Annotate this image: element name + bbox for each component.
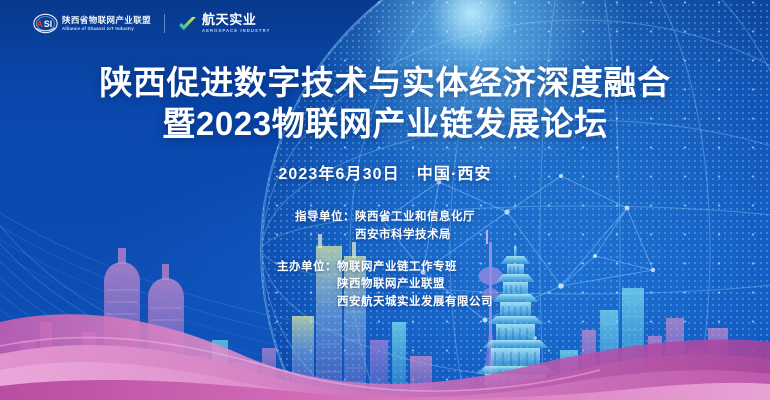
- headline-line-2: 暨2023物联网产业链发展论坛: [0, 104, 770, 145]
- svg-text:A: A: [37, 19, 44, 29]
- host-units-label: 主办单位：: [277, 259, 337, 277]
- list-item: 陕西物联网产业联盟: [337, 276, 493, 294]
- guidance-units-label: 指导单位：: [295, 209, 355, 227]
- list-item: 西安航天城实业发展有限公司: [337, 294, 493, 312]
- event-date-location: 2023年6月30日 中国·西安: [0, 160, 770, 184]
- alliance-logo: A SI 陕西省物联网产业联盟 Alliance of Shaanxi IoT …: [33, 11, 151, 36]
- host-units-list: 物联网产业链工作专班 陕西物联网产业联盟 西安航天城实业发展有限公司: [337, 259, 493, 312]
- aerospace-en-name: AEROSPACE INDUSTRY: [202, 29, 270, 33]
- aerospace-cn-name: 航天实业: [202, 13, 270, 26]
- alliance-cn-name: 陕西省物联网产业联盟: [62, 16, 151, 25]
- aerospace-logo: 航天实业 AEROSPACE INDUSTRY: [178, 13, 270, 33]
- guidance-units-list: 陕西省工业和信息化厅 西安市科学技术局: [355, 209, 475, 245]
- guidance-units-block: 指导单位： 陕西省工业和信息化厅 西安市科学技术局: [295, 209, 475, 245]
- asi-oval-logo-icon: A SI: [33, 11, 58, 36]
- svg-text:SI: SI: [44, 19, 52, 29]
- logo-divider: [164, 14, 165, 33]
- poster-headline: 陕西促进数字技术与实体经济深度融合 暨2023物联网产业链发展论坛: [0, 63, 770, 145]
- poster-canvas: A SI 陕西省物联网产业联盟 Alliance of Shaanxi IoT …: [0, 0, 770, 400]
- headline-line-1: 陕西促进数字技术与实体经济深度融合: [0, 63, 770, 104]
- organizer-section: 指导单位： 陕西省工业和信息化厅 西安市科学技术局 主办单位： 物联网产业链工作…: [0, 209, 770, 312]
- aerospace-checkmark-icon: [178, 16, 197, 31]
- list-item: 物联网产业链工作专班: [337, 259, 493, 277]
- alliance-en-name: Alliance of Shaanxi IoT Industry: [62, 27, 153, 31]
- logo-bar: A SI 陕西省物联网产业联盟 Alliance of Shaanxi IoT …: [33, 11, 270, 36]
- list-item: 陕西省工业和信息化厅: [355, 209, 475, 227]
- list-item: 西安市科学技术局: [355, 227, 475, 245]
- host-units-block: 主办单位： 物联网产业链工作专班 陕西物联网产业联盟 西安航天城实业发展有限公司: [277, 259, 493, 312]
